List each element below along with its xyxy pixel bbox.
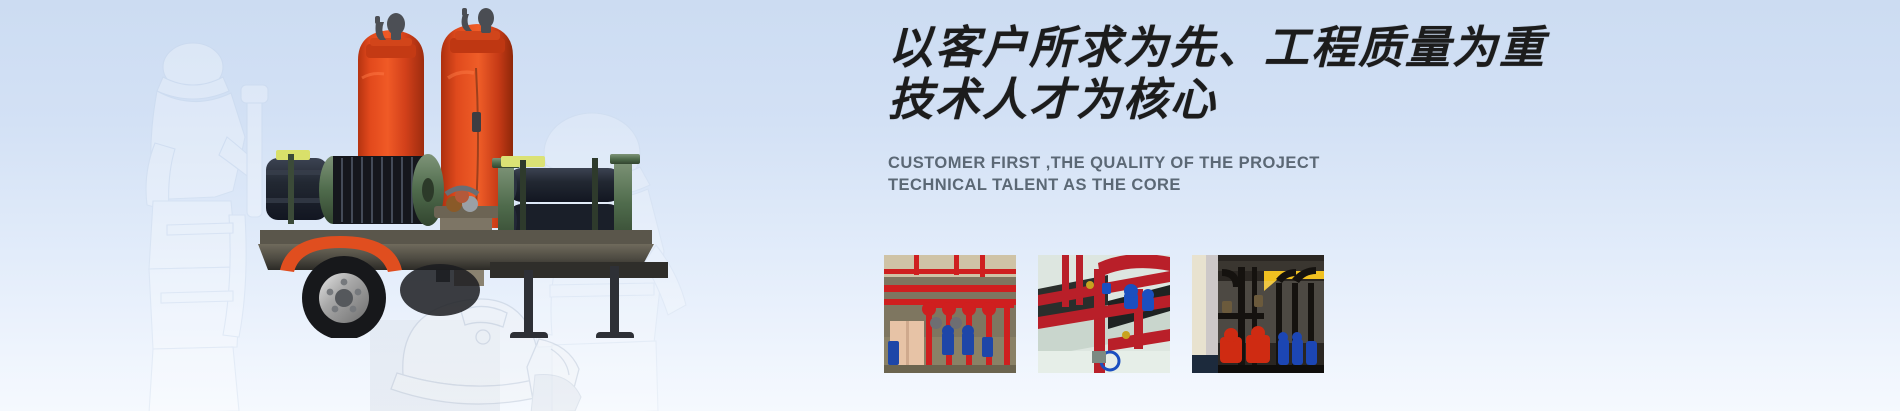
thumbnail-strip (884, 255, 1324, 373)
thumb-red-standpipe-stairwell[interactable] (1038, 255, 1170, 373)
headline-chinese: 以客户所求为先、工程质量为重 技术人才为核心 (888, 22, 1528, 126)
banner-copy: 以客户所求为先、工程质量为重 技术人才为核心 CUSTOMER FIRST ,T… (888, 22, 1528, 196)
mobile-fire-foam-trailer-image (258, 8, 668, 338)
subtitle-line-1: CUSTOMER FIRST ,THE QUALITY OF THE PROJE… (888, 152, 1528, 174)
subtitle-english: CUSTOMER FIRST ,THE QUALITY OF THE PROJE… (888, 152, 1528, 196)
thumb-pump-room-equipment[interactable] (1192, 255, 1324, 373)
firefighter-with-hose-left-watermark-icon (95, 25, 285, 411)
headline-line-1: 以客户所求为先、工程质量为重 (888, 23, 1546, 73)
hero-banner: 以客户所求为先、工程质量为重 技术人才为核心 CUSTOMER FIRST ,T… (0, 0, 1900, 411)
headline-line-2: 技术人才为核心 (888, 74, 1528, 126)
subtitle-line-2: TECHNICAL TALENT AS THE CORE (888, 174, 1528, 196)
thumb-red-sprinkler-riser-room[interactable] (884, 255, 1016, 373)
